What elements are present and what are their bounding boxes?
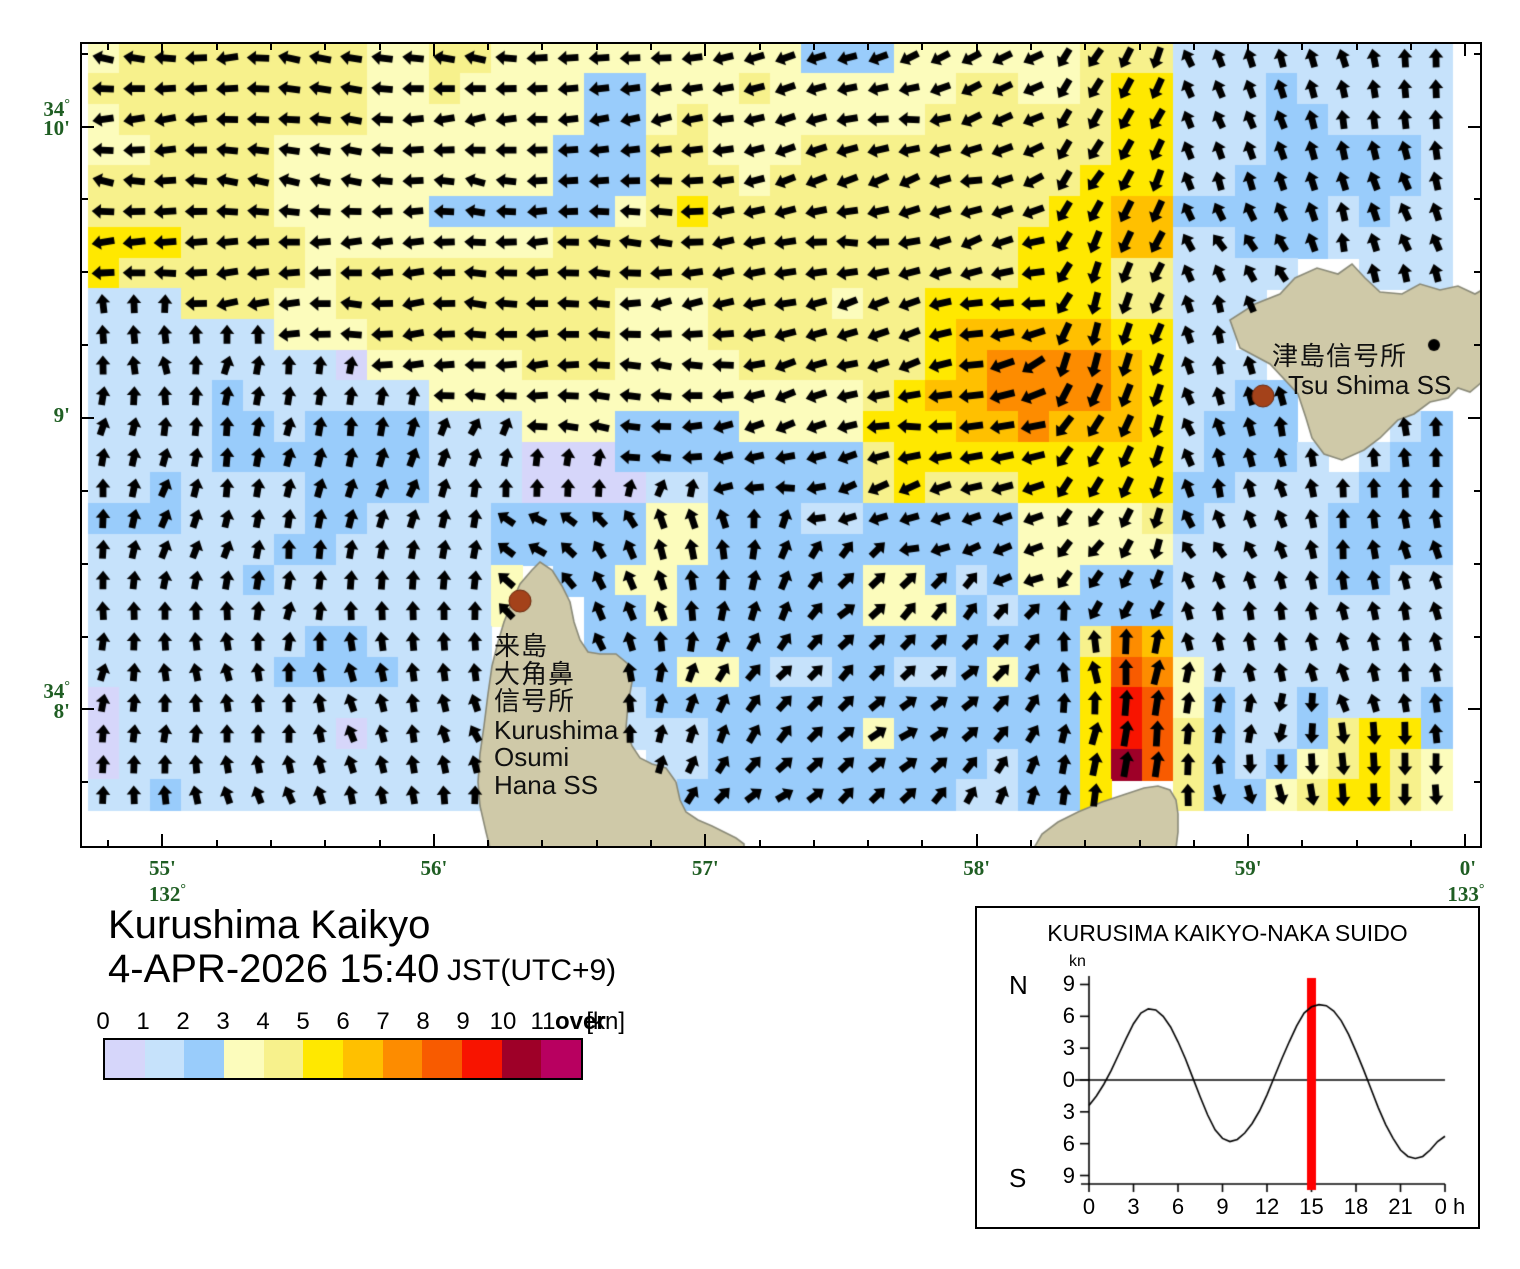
x-tick — [379, 840, 381, 848]
x-tick-top — [650, 42, 652, 50]
x-tick — [324, 840, 326, 848]
x-tick — [433, 834, 435, 848]
x-tick — [704, 834, 706, 848]
tide-ytick-6: 9 — [1063, 1163, 1075, 1189]
x-tick-top — [813, 42, 815, 50]
colorbar-label-6: 6 — [336, 1008, 349, 1036]
colorbar-label-0: 0 — [96, 1008, 109, 1036]
x-tick-top — [324, 42, 326, 50]
x-tick — [1139, 840, 1141, 848]
x-tick — [270, 840, 272, 848]
datetime-label: 4-APR-2026 15:40 — [108, 947, 439, 992]
station-label-tsu-shima: 津島信号所Tsu Shima SS — [1272, 344, 1451, 399]
x-tick-top — [759, 42, 761, 50]
title-datetime-row: 4-APR-2026 15:40 JST(UTC+9) — [108, 945, 430, 993]
y-tick-right — [1474, 53, 1482, 55]
tide-xtick-4: 12 — [1255, 1194, 1279, 1220]
x-tick-top — [1301, 42, 1303, 50]
x-tick-top — [596, 42, 598, 50]
y-tick — [80, 563, 88, 565]
y-tick-right — [1474, 490, 1482, 492]
tide-curve-canvas[interactable] — [1037, 968, 1457, 1218]
y-tick — [80, 53, 88, 55]
colorbar-label-5: 5 — [296, 1008, 309, 1036]
x-tick — [1464, 834, 1466, 848]
title-block: Kurushima Kaikyo 4-APR-2026 15:40 JST(UT… — [108, 905, 430, 993]
x-axis-label-0: 0' — [1460, 856, 1476, 881]
x-tick-top — [216, 42, 218, 50]
x-tick — [541, 840, 543, 848]
x-tick-top — [704, 42, 706, 56]
colorbar-swatch-6 — [343, 1040, 383, 1078]
x-tick — [813, 840, 815, 848]
colorbar-unit-label: over [kn] — [555, 1008, 606, 1036]
x-tick — [1247, 834, 1249, 848]
tide-current-graph-panel: KURUSIMA KAIKYO-NAKA SUIDO kn N S 963036… — [975, 906, 1480, 1229]
x-tick-top — [1247, 42, 1249, 56]
y-axis-label-3410: 34°10' — [14, 99, 70, 139]
x-axis-label-57: 57' — [692, 856, 719, 881]
station-label-jp-2: 信号所 — [494, 689, 618, 717]
colorbar-label-3: 3 — [216, 1008, 229, 1036]
y-tick — [80, 126, 94, 128]
colorbar-swatch-8 — [422, 1040, 462, 1078]
x-axis-label-56: 56' — [420, 856, 447, 881]
y-tick-right — [1468, 708, 1482, 710]
x-tick-top — [270, 42, 272, 50]
page-title: Kurushima Kaikyo — [108, 905, 430, 945]
station-label-en-1: Osumi — [494, 744, 618, 772]
tide-xtick-6: 18 — [1344, 1194, 1368, 1220]
timezone-label: JST(UTC+9) — [447, 954, 616, 988]
station-label-en-2: Hana SS — [494, 772, 618, 800]
x-tick — [107, 840, 109, 848]
x-tick-top — [1356, 42, 1358, 50]
colorbar-swatch-10 — [502, 1040, 542, 1078]
tide-xtick-5: 15 — [1299, 1194, 1323, 1220]
y-tick-right — [1474, 344, 1482, 346]
colorbar-swatch-11 — [541, 1040, 581, 1078]
tide-xtick-3: 9 — [1216, 1194, 1228, 1220]
y-tick — [80, 198, 88, 200]
colorbar-tick-labels: 01234567891011over [kn] — [103, 1008, 583, 1034]
colorbar-swatch-1 — [145, 1040, 185, 1078]
station-label-jp-0: 津島信号所 — [1272, 344, 1451, 372]
x-tick — [596, 840, 598, 848]
tide-xtick-1: 3 — [1127, 1194, 1139, 1220]
x-tick-top — [1193, 42, 1195, 50]
y-tick — [80, 636, 88, 638]
x-axis-label-59: 59' — [1235, 856, 1262, 881]
tide-ytick-3: 0 — [1063, 1067, 1075, 1093]
x-tick — [921, 840, 923, 848]
y-tick — [80, 490, 88, 492]
x-tick — [487, 840, 489, 848]
colorbar-label-10: 10 — [490, 1008, 517, 1036]
x-tick — [1410, 840, 1412, 848]
y-tick — [80, 781, 88, 783]
x-axis-degree-right: 133° — [1447, 882, 1484, 907]
colorbar-swatch-5 — [303, 1040, 343, 1078]
x-axis-label-58: 58' — [963, 856, 990, 881]
x-tick-top — [1410, 42, 1412, 50]
y-tick-right — [1474, 636, 1482, 638]
x-tick-top — [1084, 42, 1086, 50]
x-tick — [650, 840, 652, 848]
map-plot-frame — [80, 42, 1482, 848]
y-tick — [80, 271, 88, 273]
tidal-current-map-panel: 55'56'57'58'59'0'132°133°34°10'9'34°8' 津… — [0, 0, 1520, 900]
colorbar-swatch-9 — [462, 1040, 502, 1078]
x-axis-label-55: 55' — [149, 856, 176, 881]
y-tick-right — [1474, 563, 1482, 565]
station-label-en-0: Kurushima — [494, 717, 618, 745]
x-tick — [161, 834, 163, 848]
x-tick — [1084, 840, 1086, 848]
station-label-en-0: Tsu Shima SS — [1288, 372, 1451, 400]
colorbar-label-2: 2 — [176, 1008, 189, 1036]
speed-colorbar: 01234567891011over [kn] — [103, 1008, 583, 1034]
y-tick-right — [1474, 781, 1482, 783]
station-label-jp-0: 来島 — [494, 634, 618, 662]
tide-ytick-1: 6 — [1063, 1003, 1075, 1029]
y-axis-label-9: 9' — [14, 406, 70, 425]
colorbar-label-11: 11 — [531, 1008, 556, 1036]
tide-south-label: S — [1009, 1163, 1026, 1194]
x-tick — [1301, 840, 1303, 848]
x-tick — [759, 840, 761, 848]
colorbar-label-7: 7 — [376, 1008, 389, 1036]
x-tick-top — [1464, 42, 1466, 56]
x-tick-top — [379, 42, 381, 50]
tide-xtick-0: 0 — [1083, 1194, 1095, 1220]
x-tick — [1030, 840, 1032, 848]
colorbar-label-1: 1 — [136, 1008, 149, 1036]
x-tick — [867, 840, 869, 848]
x-tick-top — [161, 42, 163, 56]
tide-xtick-7: 21 — [1388, 1194, 1412, 1220]
y-axis-label-348: 34°8' — [14, 681, 70, 721]
tide-ytick-0: 9 — [1063, 971, 1075, 997]
tide-graph-title: KURUSIMA KAIKYO-NAKA SUIDO — [977, 920, 1478, 947]
y-tick — [80, 344, 88, 346]
tide-ytick-4: 3 — [1063, 1099, 1075, 1125]
x-tick-top — [1030, 42, 1032, 50]
x-tick — [216, 840, 218, 848]
x-tick-top — [487, 42, 489, 50]
station-label-jp-1: 大角鼻 — [494, 662, 618, 690]
x-tick-top — [867, 42, 869, 50]
colorbar-swatch-4 — [264, 1040, 304, 1078]
x-tick-top — [541, 42, 543, 50]
x-tick-top — [433, 42, 435, 56]
colorbar-swatch-7 — [383, 1040, 423, 1078]
tide-xtick-2: 6 — [1172, 1194, 1184, 1220]
y-tick-right — [1474, 271, 1482, 273]
tide-north-label: N — [1009, 970, 1028, 1001]
y-tick — [80, 708, 94, 710]
colorbar-swatches — [103, 1038, 583, 1080]
colorbar-label-4: 4 — [256, 1008, 269, 1036]
tide-ytick-5: 6 — [1063, 1131, 1075, 1157]
x-tick — [1193, 840, 1195, 848]
colorbar-label-9: 9 — [456, 1008, 469, 1036]
x-tick-top — [976, 42, 978, 56]
x-tick — [976, 834, 978, 848]
x-tick-top — [1139, 42, 1141, 50]
colorbar-swatch-2 — [184, 1040, 224, 1078]
colorbar-swatch-0 — [105, 1040, 145, 1078]
y-tick-right — [1468, 417, 1482, 419]
tide-ytick-2: 3 — [1063, 1035, 1075, 1061]
x-tick-top — [107, 42, 109, 50]
station-label-kurushima-osumi-hana: 来島大角鼻信号所KurushimaOsumiHana SS — [494, 634, 618, 799]
y-tick — [80, 417, 94, 419]
x-tick-top — [921, 42, 923, 50]
colorbar-swatch-3 — [224, 1040, 264, 1078]
y-tick-right — [1474, 198, 1482, 200]
colorbar-label-8: 8 — [416, 1008, 429, 1036]
y-tick-right — [1468, 126, 1482, 128]
x-tick — [1356, 840, 1358, 848]
tide-xtick-8: 0 h — [1435, 1194, 1466, 1220]
